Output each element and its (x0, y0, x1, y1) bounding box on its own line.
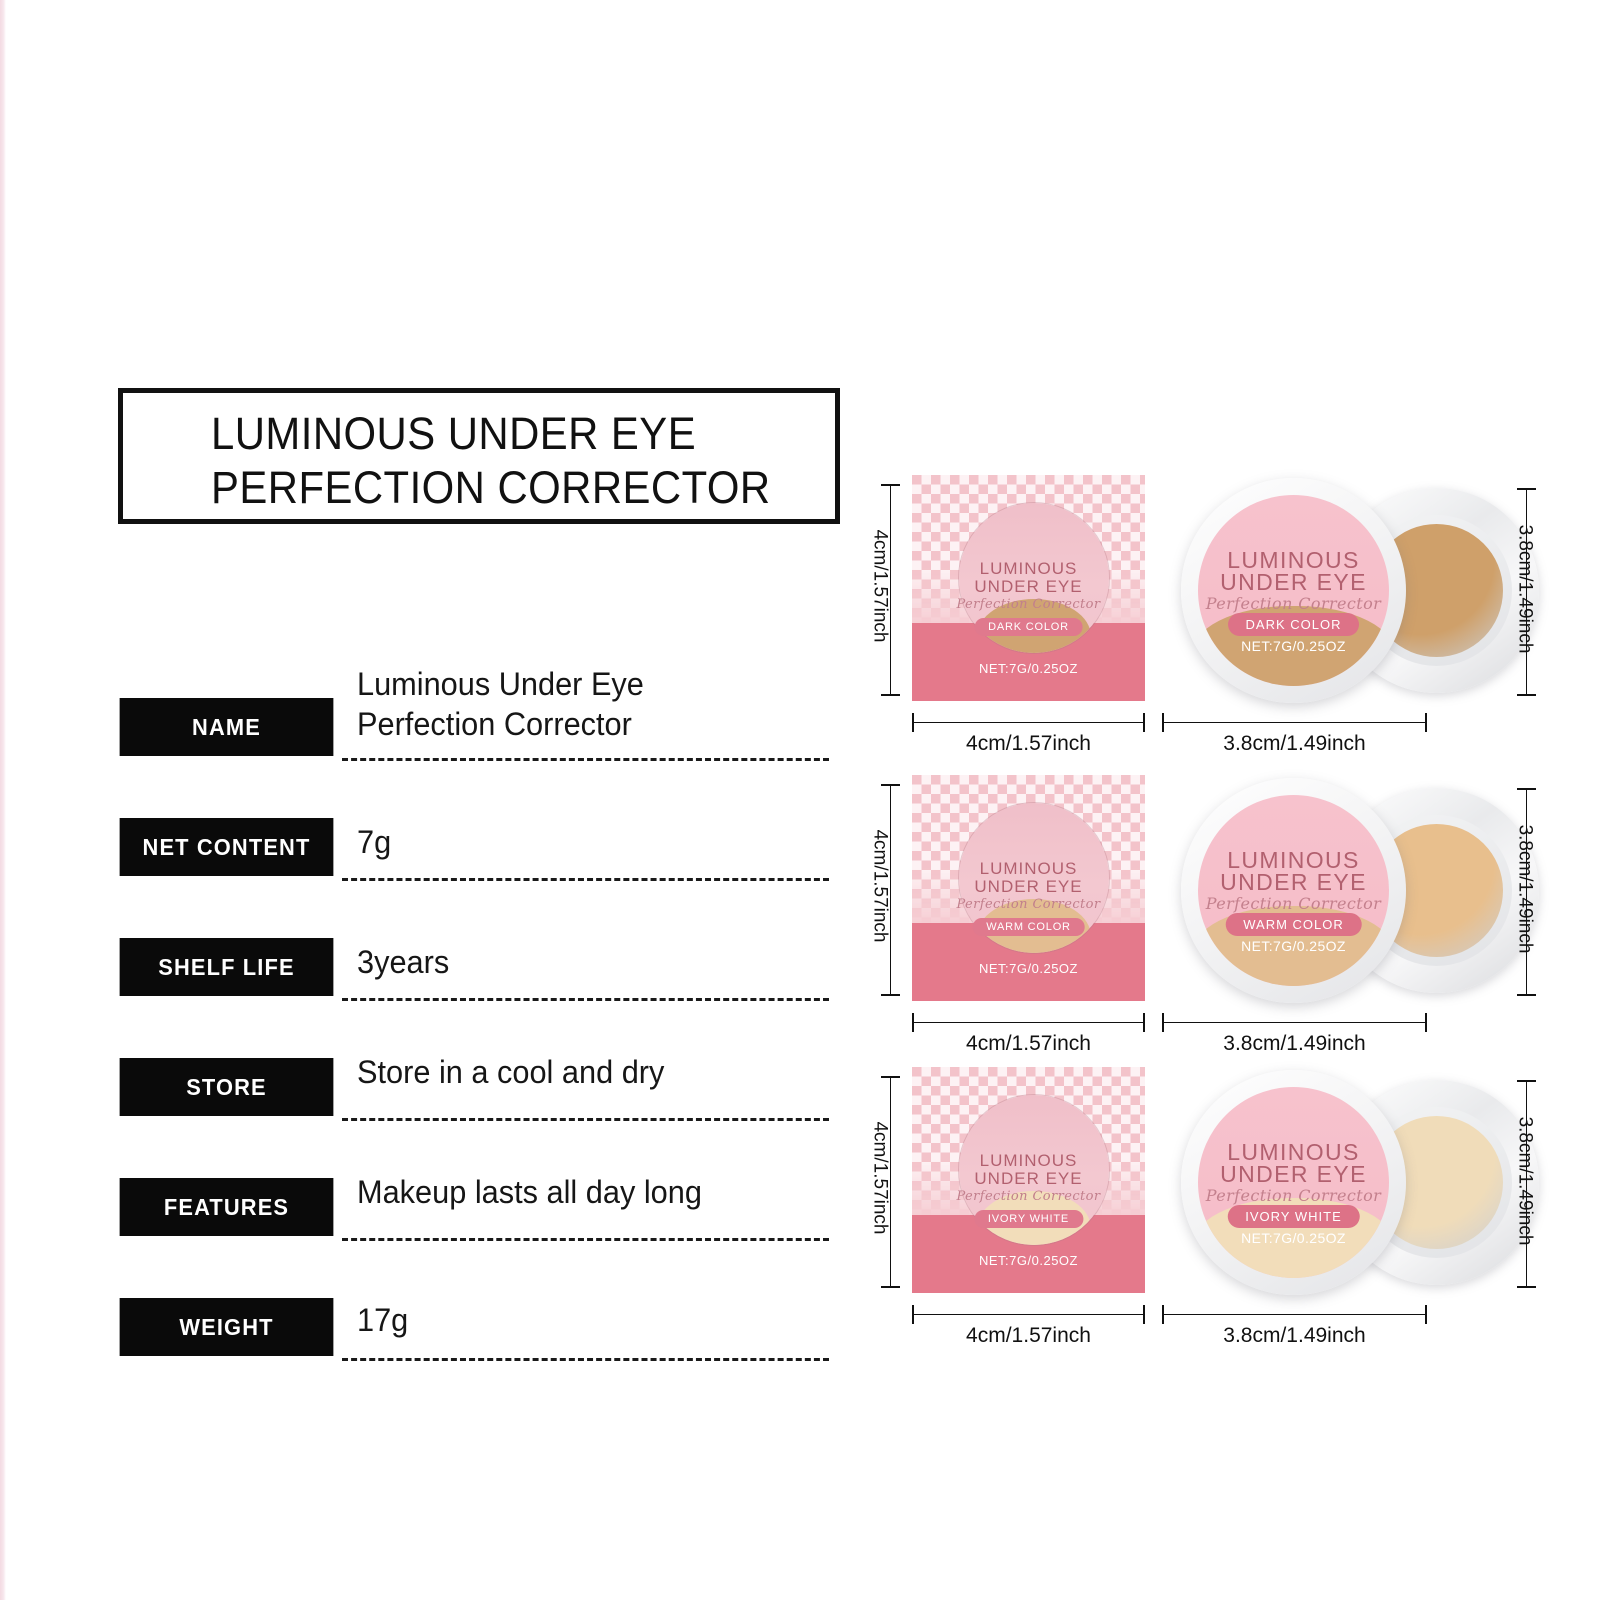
jar-width-label: 3.8cm/1.49inch (1162, 1032, 1427, 1056)
lid-brand-line2: UNDER EYE (1198, 1161, 1389, 1188)
carton-shade-badge: DARK COLOR (974, 618, 1083, 636)
product-jar: LUMINOUS UNDER EYE Perfection Corrector … (1175, 470, 1555, 710)
carton-width-label: 4cm/1.57inch (912, 1324, 1145, 1348)
product-jar: LUMINOUS UNDER EYE Perfection Corrector … (1175, 1062, 1555, 1302)
spec-divider (342, 1118, 829, 1121)
carton-script-text: Perfection Corrector (912, 1189, 1145, 1204)
product-jar: LUMINOUS UNDER EYE Perfection Corrector … (1175, 770, 1555, 1010)
jar-height-label: 3.8cm/1.49inch (1513, 1117, 1535, 1246)
carton-net-weight: NET:7G/0.25OZ (912, 661, 1145, 676)
lid-net-weight: NET:7G/0.25OZ (1198, 938, 1389, 954)
lid-shade-badge: IVORY WHITE (1227, 1205, 1359, 1228)
jar-lid: LUMINOUS UNDER EYE Perfection Corrector … (1181, 478, 1406, 703)
product-carton: LUMINOUS UNDER EYE Perfection Corrector … (912, 475, 1145, 701)
carton-net-weight: NET:7G/0.25OZ (912, 961, 1145, 976)
spec-value-name: Luminous Under Eye Perfection Corrector (357, 664, 808, 744)
jar-width-caliper (1162, 722, 1427, 723)
lid-net-weight: NET:7G/0.25OZ (1198, 1230, 1389, 1246)
jar-width-caliper (1162, 1022, 1427, 1023)
lid-shade-badge: WARM COLOR (1225, 913, 1362, 936)
carton-brand-line2: UNDER EYE (912, 577, 1145, 597)
jar-lid: LUMINOUS UNDER EYE Perfection Corrector … (1181, 1070, 1406, 1295)
jar-height-label: 3.8cm/1.49inch (1513, 825, 1535, 954)
jar-lid-face: LUMINOUS UNDER EYE Perfection Corrector … (1198, 795, 1389, 986)
page-edge-strip (0, 0, 6, 1600)
lid-brand-line2: UNDER EYE (1198, 869, 1389, 896)
carton-width-caliper (912, 1314, 1145, 1315)
product-row-dark-color: 4cm/1.57inch LUMINOUS UNDER EYE Perfecti… (850, 470, 1590, 760)
title-box: LUMINOUS UNDER EYE PERFECTION CORRECTOR (118, 388, 840, 524)
spec-label-features: FEATURES (120, 1178, 334, 1236)
spec-label-name: NAME (120, 698, 334, 756)
jar-width-label: 3.8cm/1.49inch (1162, 732, 1427, 756)
carton-brand-line1: LUMINOUS (912, 559, 1145, 579)
carton-brand-line1: LUMINOUS (912, 1151, 1145, 1171)
infographic-page: LUMINOUS UNDER EYE PERFECTION CORRECTOR … (0, 0, 1600, 1600)
carton-width-label: 4cm/1.57inch (912, 1032, 1145, 1056)
product-row-ivory-white: 4cm/1.57inch LUMINOUS UNDER EYE Perfecti… (850, 1062, 1590, 1352)
spec-row-weight: WEIGHT 17g (114, 1290, 829, 1410)
jar-width-label: 3.8cm/1.49inch (1162, 1324, 1427, 1348)
page-title: LUMINOUS UNDER EYE PERFECTION CORRECTOR (211, 407, 788, 515)
product-row-warm-color: 4cm/1.57inch LUMINOUS UNDER EYE Perfecti… (850, 770, 1590, 1060)
spec-divider (342, 758, 829, 761)
spec-row-features: FEATURES Makeup lasts all day long (114, 1170, 829, 1290)
carton-shade-badge: WARM COLOR (972, 918, 1085, 936)
spec-value-shelf-life: 3years (357, 942, 808, 982)
lid-net-weight: NET:7G/0.25OZ (1198, 638, 1389, 654)
lid-script-text: Perfection Corrector (1198, 594, 1389, 613)
carton-brand-line1: LUMINOUS (912, 859, 1145, 879)
lid-script-text: Perfection Corrector (1198, 1186, 1389, 1205)
carton-brand-line2: UNDER EYE (912, 877, 1145, 897)
spec-divider (342, 878, 829, 881)
carton-width-caliper (912, 1022, 1145, 1023)
product-carton: LUMINOUS UNDER EYE Perfection Corrector … (912, 1067, 1145, 1293)
carton-shade-badge: IVORY WHITE (974, 1210, 1083, 1228)
carton-width-label: 4cm/1.57inch (912, 732, 1145, 756)
carton-script-text: Perfection Corrector (912, 597, 1145, 612)
lid-brand-line2: UNDER EYE (1198, 569, 1389, 596)
spec-divider (342, 1238, 829, 1241)
spec-divider (342, 998, 829, 1001)
jar-lid-face: LUMINOUS UNDER EYE Perfection Corrector … (1198, 495, 1389, 686)
spec-label-net-content: NET CONTENT (120, 818, 334, 876)
lid-shade-badge: DARK COLOR (1228, 613, 1360, 636)
carton-width-caliper (912, 722, 1145, 723)
spec-label-weight: WEIGHT (120, 1298, 334, 1356)
jar-width-caliper (1162, 1314, 1427, 1315)
carton-height-label: 4cm/1.57inch (869, 829, 891, 942)
spec-row-store: STORE Store in a cool and dry (114, 1050, 829, 1170)
lid-script-text: Perfection Corrector (1198, 894, 1389, 913)
jar-lid: LUMINOUS UNDER EYE Perfection Corrector … (1181, 778, 1406, 1003)
jar-height-label: 3.8cm/1.49inch (1513, 525, 1535, 654)
carton-net-weight: NET:7G/0.25OZ (912, 1253, 1145, 1268)
jar-lid-face: LUMINOUS UNDER EYE Perfection Corrector … (1198, 1087, 1389, 1278)
carton-height-label: 4cm/1.57inch (869, 1121, 891, 1234)
spec-row-net-content: NET CONTENT 7g (114, 810, 829, 930)
product-carton: LUMINOUS UNDER EYE Perfection Corrector … (912, 775, 1145, 1001)
spec-value-features: Makeup lasts all day long (357, 1172, 808, 1212)
spec-label-store: STORE (120, 1058, 334, 1116)
carton-script-text: Perfection Corrector (912, 897, 1145, 912)
spec-value-store: Store in a cool and dry (357, 1052, 808, 1092)
spec-value-weight: 17g (357, 1300, 808, 1340)
spec-table: NAME Luminous Under Eye Perfection Corre… (114, 690, 829, 1410)
carton-height-label: 4cm/1.57inch (869, 529, 891, 642)
spec-row-name: NAME Luminous Under Eye Perfection Corre… (114, 690, 829, 810)
spec-row-shelf-life: SHELF LIFE 3years (114, 930, 829, 1050)
spec-divider (342, 1358, 829, 1361)
spec-label-shelf-life: SHELF LIFE (120, 938, 334, 996)
carton-brand-line2: UNDER EYE (912, 1169, 1145, 1189)
spec-value-net-content: 7g (357, 822, 808, 862)
